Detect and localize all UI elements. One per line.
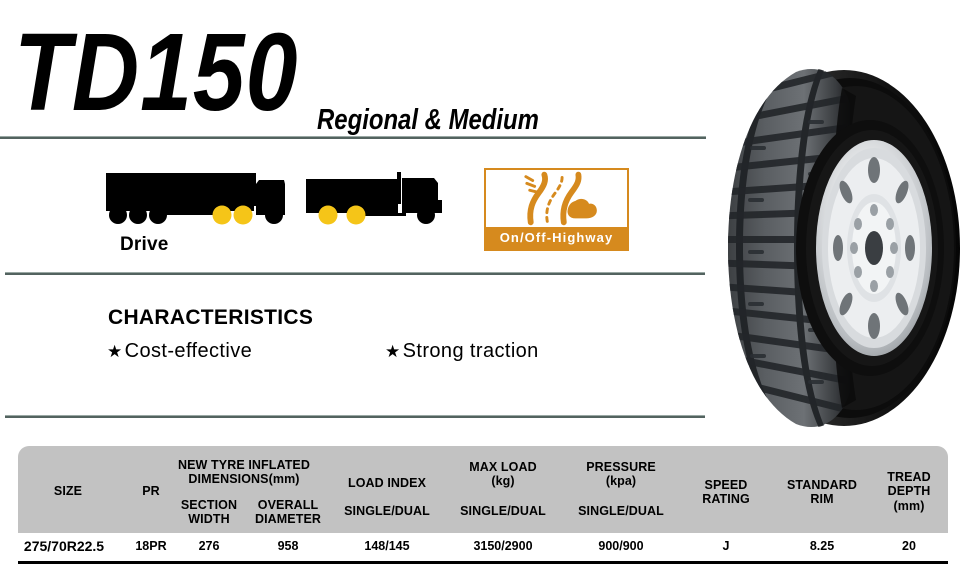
cell-load-index: 148/145 <box>332 539 442 553</box>
column-header-section-width: SECTION WIDTH <box>168 498 250 527</box>
title-block: TD150 Regional & Medium <box>14 16 714 131</box>
section-width-line1: SECTION <box>181 498 237 512</box>
table-header: SIZE PR NEW TYRE INFLATED DIMENSIONS(mm)… <box>18 446 948 533</box>
characteristic-label: Cost-effective <box>125 340 253 362</box>
max-load-line1: MAX LOAD <box>469 460 536 474</box>
column-header-size: SIZE <box>18 484 118 498</box>
on-off-highway-badge: On/Off-Highway <box>484 168 629 251</box>
cell-overall-diameter: 958 <box>244 539 332 553</box>
overall-diameter-line2: DIAMETER <box>255 512 321 526</box>
characteristic-label: Strong traction <box>403 340 539 362</box>
cell-speed-rating: J <box>682 539 770 553</box>
dimensions-group-line2: DIMENSIONS(mm) <box>188 472 299 486</box>
specification-table: SIZE PR NEW TYRE INFLATED DIMENSIONS(mm)… <box>18 446 948 566</box>
characteristic-item: ★Strong traction <box>385 340 539 363</box>
speed-rating-line1: SPEED <box>705 478 748 492</box>
pressure-line1: PRESSURE <box>586 460 656 474</box>
standard-rim-line1: STANDARD <box>787 478 857 492</box>
section-width-line2: WIDTH <box>188 512 229 526</box>
cell-max-load: 3150/2900 <box>448 539 558 553</box>
cell-size: 275/70R22.5 <box>4 538 124 554</box>
product-tagline: Regional & Medium <box>317 102 539 137</box>
column-header-pressure-sub: SINGLE/DUAL <box>566 504 676 518</box>
rigid-truck-icon <box>302 170 446 225</box>
column-header-standard-rim: STANDARD RIM <box>776 478 868 507</box>
column-header-speed-rating: SPEED RATING <box>682 478 770 507</box>
tyre-photo <box>710 62 962 434</box>
axle-position-label: Drive <box>120 234 169 256</box>
table-row: 275/70R22.5 18PR 276 958 148/145 3150/29… <box>18 533 948 564</box>
tread-depth-line3: (mm) <box>894 499 925 513</box>
overall-diameter-line1: OVERALL <box>258 498 318 512</box>
cell-standard-rim: 8.25 <box>776 539 868 553</box>
column-header-max-load-sub: SINGLE/DUAL <box>448 504 558 518</box>
divider-rule-middle <box>5 272 705 275</box>
characteristics-section: CHARACTERISTICS ★Cost-effective ★Strong … <box>0 276 706 412</box>
tread-depth-line2: DEPTH <box>888 484 931 498</box>
cell-section-width: 276 <box>168 539 250 553</box>
tread-depth-line1: TREAD <box>887 470 931 484</box>
column-header-pressure: PRESSURE (kpa) <box>566 460 676 489</box>
star-icon: ★ <box>385 342 401 361</box>
load-index-line1: LOAD INDEX <box>348 476 426 490</box>
column-header-load-index: LOAD INDEX <box>332 476 442 490</box>
column-header-load-index-sub: SINGLE/DUAL <box>332 504 442 518</box>
max-load-line2: (kg) <box>491 474 514 488</box>
column-header-max-load: MAX LOAD (kg) <box>448 460 558 489</box>
cell-tread-depth: 20 <box>872 539 946 553</box>
dimensions-group-line1: NEW TYRE INFLATED <box>178 458 310 472</box>
star-icon: ★ <box>107 342 123 361</box>
divider-rule-bottom <box>5 415 705 418</box>
page-title: TD150 <box>14 18 298 128</box>
tyre-spec-sheet: TD150 Regional & Medium <box>0 0 965 580</box>
cell-pressure: 900/900 <box>566 539 676 553</box>
column-header-tread-depth: TREAD DEPTH (mm) <box>872 470 946 513</box>
pressure-line2: (kpa) <box>606 474 636 488</box>
semi-trailer-truck-icon <box>104 170 286 225</box>
column-header-dimensions-group: NEW TYRE INFLATED DIMENSIONS(mm) <box>164 458 324 487</box>
divider-rule-top <box>0 136 706 139</box>
standard-rim-line2: RIM <box>810 492 833 506</box>
on-off-highway-label: On/Off-Highway <box>486 227 627 249</box>
characteristic-item: ★Cost-effective <box>107 340 252 363</box>
winding-road-icon <box>486 170 627 227</box>
characteristics-title: CHARACTERISTICS <box>108 306 313 330</box>
column-header-overall-diameter: OVERALL DIAMETER <box>244 498 332 527</box>
speed-rating-line2: RATING <box>702 492 750 506</box>
